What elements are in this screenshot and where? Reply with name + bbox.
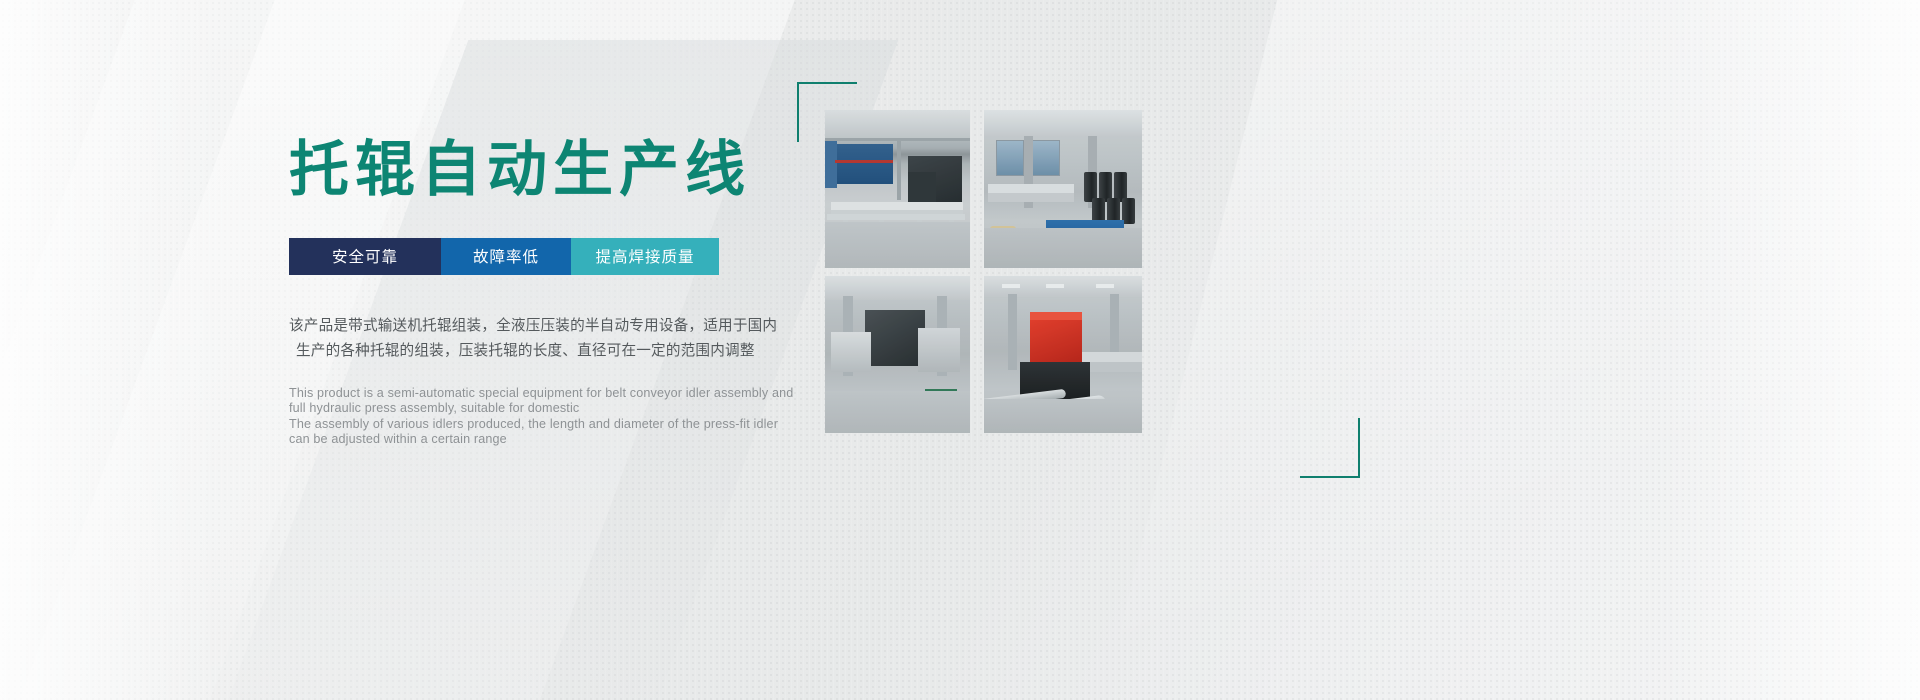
left-edge-highlight	[0, 0, 220, 700]
product-banner: 托辊自动生产线 安全可靠 故障率低 提高焊接质量 该产品是带式输送机托辊组装，全…	[0, 0, 1920, 700]
feature-badge-low-failure[interactable]: 故障率低	[441, 238, 571, 275]
gallery-photo-red-press-machine[interactable]	[984, 276, 1142, 433]
gallery-photo-machine-row-crates[interactable]	[825, 276, 970, 433]
corner-bracket-bottom-right-icon	[1300, 418, 1360, 478]
feature-badge-safe[interactable]: 安全可靠	[289, 238, 441, 275]
gallery-photo-conveyor-production-line[interactable]	[825, 110, 970, 268]
right-edge-highlight	[1660, 0, 1920, 700]
photo-gallery	[825, 110, 1152, 440]
feature-badge-weld-quality[interactable]: 提高焊接质量	[571, 238, 719, 275]
gallery-photo-workshop-drums[interactable]	[984, 110, 1142, 268]
photo-grid	[825, 110, 1152, 440]
decorative-diagonal-slab-right	[1068, 0, 1920, 700]
